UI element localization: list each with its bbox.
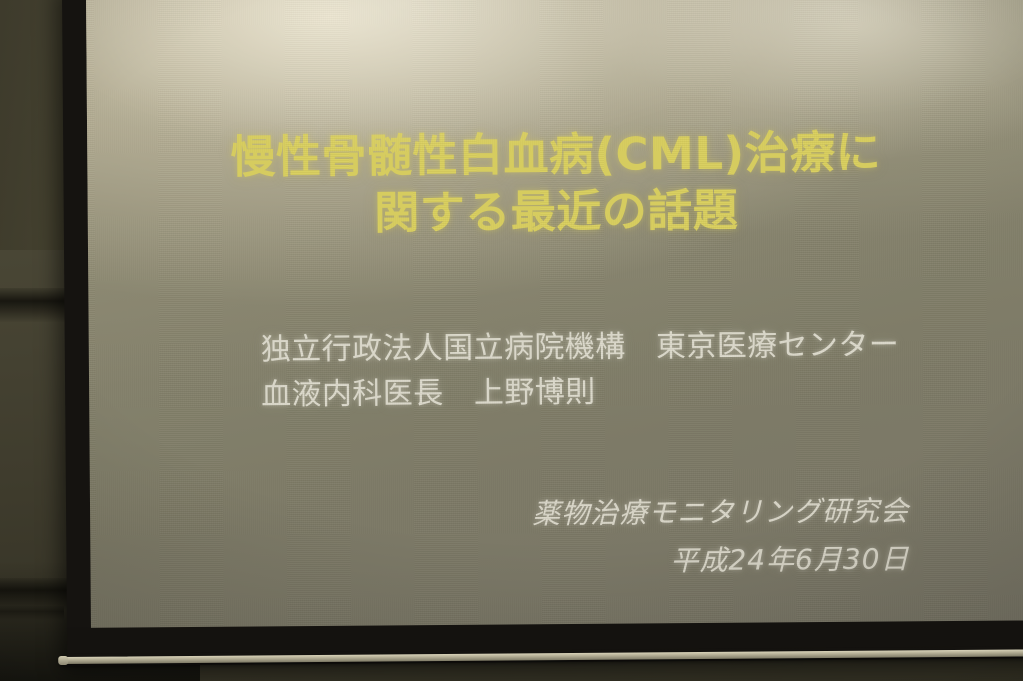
projection-screen: 慢性骨髄性白血病(CML)治療に 関する最近の話題 独立行政法人国立病院機構 東… [62,0,1023,666]
slide-footer-organization: 薬物治療モニタリング研究会 [532,487,909,538]
slide-title: 慢性骨髄性白血病(CML)治療に 関する最近の話題 [87,122,1023,243]
presentation-slide: 慢性骨髄性白血病(CML)治療に 関する最近の話題 独立行政法人国立病院機構 東… [86,0,1023,632]
slide-footer-date: 平成24年6月30日 [532,535,909,586]
slide-affiliation-line-2: 血液内科医長 上野博則 [261,367,900,417]
slide-affiliation-line-1: 独立行政法人国立病院機構 東京医療センター [261,322,900,372]
slide-title-line-1: 慢性骨髄性白血病(CML)治療に [87,122,1023,186]
screen-surface: 慢性骨髄性白血病(CML)治療に 関する最近の話題 独立行政法人国立病院機構 東… [86,0,1023,632]
slide-affiliation: 独立行政法人国立病院機構 東京医療センター 血液内科医長 上野博則 [261,322,900,417]
slide-footer: 薬物治療モニタリング研究会 平成24年6月30日 [532,487,910,586]
slide-title-line-2: 関する最近の話題 [88,179,1023,243]
screen-weight-bar-end-cap [58,656,68,665]
photo-scene: 慢性骨髄性白血病(CML)治療に 関する最近の話題 独立行政法人国立病院機構 東… [0,0,1023,681]
